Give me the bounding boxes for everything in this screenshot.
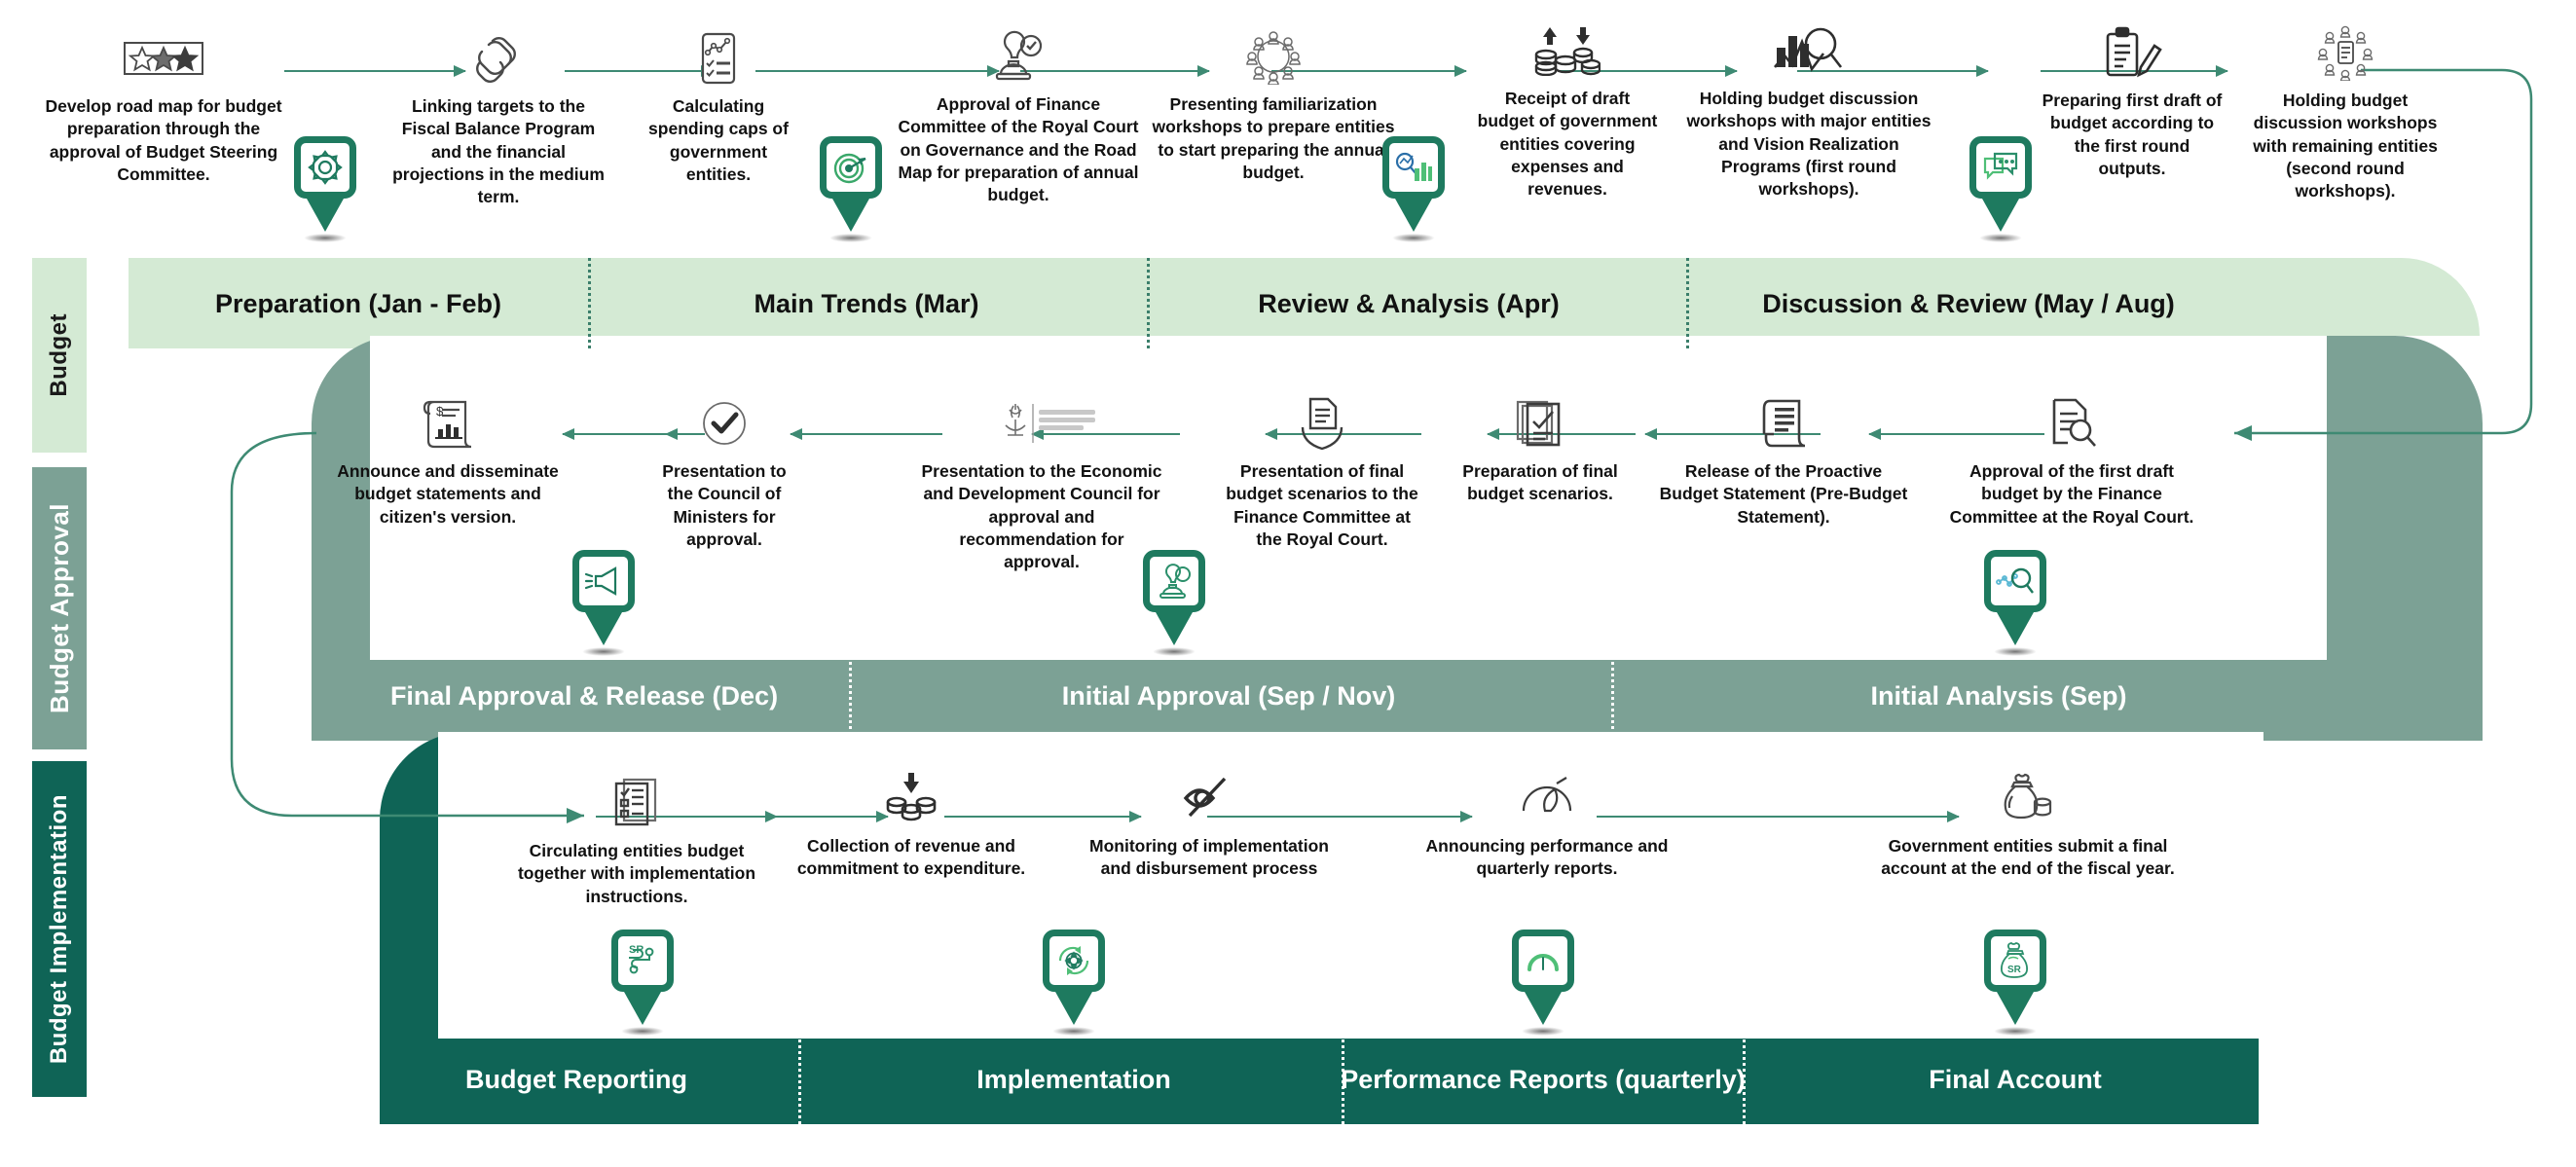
step-r2-1-caption: Announce and disseminate budget statemen… (336, 460, 560, 529)
step-r1-6-caption: Receipt of draft budget of government en… (1475, 88, 1660, 201)
divider-row3-1 (798, 1034, 801, 1124)
step-r1-3-caption: Calculating spending caps of government … (645, 95, 791, 186)
phase-label-initial-analysis: Initial Analysis (Sep) (1870, 681, 2126, 711)
phase-label-budget-reporting: Budget Reporting (465, 1065, 687, 1095)
phase-label-review-analysis: Review & Analysis (Apr) (1258, 289, 1560, 319)
budget-cycle-diagram: Budget Budget Approval Budget Implementa… (0, 0, 2576, 1167)
gauge-pin-icon (1512, 930, 1574, 992)
scroll-statement-icon (1657, 394, 1910, 453)
phase-label-preparation: Preparation (Jan - Feb) (215, 289, 501, 319)
phase-label-implementation: Implementation (976, 1065, 1171, 1095)
step-r1-2: Linking targets to the Fiscal Balance Pr… (391, 29, 606, 208)
lane-label-budget-implementation-text: Budget Implementation (46, 794, 73, 1064)
step-r1-8: Preparing first draft of budget accordin… (2040, 23, 2225, 180)
lane-label-budget-approval: Budget Approval (32, 467, 87, 749)
step-r2-5-caption: Preparation of final budget scenarios. (1453, 460, 1628, 506)
step-r3-5-caption: Government entities submit a final accou… (1872, 835, 2184, 881)
step-r3-2-caption: Collection of revenue and commitment to … (794, 835, 1028, 881)
money-bag-coins-icon (1872, 769, 2184, 827)
step-r3-2: Collection of revenue and commitment to … (794, 769, 1028, 881)
chat-bubbles-pin-icon (1969, 136, 2032, 199)
coins-up-down-icon (1475, 21, 1660, 80)
pin-performance-reports[interactable] (1512, 930, 1574, 1036)
step-r2-1: $ Announce and disseminate budget statem… (336, 394, 560, 529)
step-r2-6-caption: Release of the Proactive Budget Statemen… (1657, 460, 1910, 529)
bar-chart-magnifier-icon (1677, 21, 1940, 80)
pin-initial-approval[interactable] (1143, 550, 1205, 656)
stars-rating-icon (32, 29, 295, 88)
approval-stamp-icon (892, 27, 1145, 86)
step-r1-4: Approval of Finance Committee of the Roy… (892, 27, 1145, 206)
stamp-pin-icon (1143, 550, 1205, 612)
gauge-meter-icon (1425, 769, 1669, 827)
step-r2-2: Presentation to the Council of Ministers… (651, 394, 797, 551)
step-r3-4: Announcing performance and quarterly rep… (1425, 769, 1669, 881)
pin-final-approval[interactable] (572, 550, 635, 656)
svg-text:SR: SR (2007, 965, 2022, 975)
divider-row2-2 (1611, 650, 1614, 741)
step-r2-6: Release of the Proactive Budget Statemen… (1657, 394, 1910, 529)
lane-label-budget: Budget (32, 258, 87, 453)
pin-preparation[interactable] (294, 136, 356, 242)
phase-label-final-account: Final Account (1929, 1065, 2102, 1095)
phase-label-performance-reports: Performance Reports (quarterly) (1341, 1065, 1746, 1095)
pin-final-account[interactable]: SR (1984, 930, 2046, 1036)
coins-down-arrow-icon (794, 769, 1028, 827)
lane-label-budget-text: Budget (46, 313, 73, 397)
step-r1-5-caption: Presenting familiarization workshops to … (1152, 93, 1395, 184)
step-r1-9: Holding budget discussion workshops with… (2243, 23, 2447, 202)
chain-link-icon (391, 29, 606, 88)
lane-label-budget-implementation: Budget Implementation (32, 761, 87, 1097)
lane-label-budget-approval-text: Budget Approval (45, 503, 75, 713)
step-r1-9-caption: Holding budget discussion workshops with… (2243, 90, 2447, 202)
svg-text:$: $ (436, 404, 444, 419)
step-r1-8-caption: Preparing first draft of budget accordin… (2040, 90, 2225, 180)
divider-row1-3 (1686, 258, 1689, 348)
search-analytics-pin-icon (1984, 550, 2046, 612)
eye-slash-icon (1083, 769, 1336, 827)
documents-check-icon (1453, 394, 1628, 453)
pin-budget-reporting[interactable]: SR (611, 930, 674, 1036)
clipboard-pencil-icon (2040, 23, 2225, 82)
step-r1-2-caption: Linking targets to the Fiscal Balance Pr… (391, 95, 606, 208)
step-r2-5: Preparation of final budget scenarios. (1453, 394, 1628, 506)
phase-label-discussion-review: Discussion & Review (May / Aug) (1762, 289, 2175, 319)
step-r3-5: Government entities submit a final accou… (1872, 769, 2184, 881)
pin-review-analysis[interactable] (1382, 136, 1445, 242)
phase-label-final-approval: Final Approval & Release (Dec) (390, 681, 778, 711)
step-r1-6: Receipt of draft budget of government en… (1475, 21, 1660, 201)
megaphone-pin-icon (572, 550, 635, 612)
step-r1-7-caption: Holding budget discussion workshops with… (1677, 88, 1940, 201)
step-r3-1-caption: Circulating entities budget together wit… (515, 840, 758, 908)
step-r2-7-caption: Approval of the first draft budget by th… (1940, 460, 2203, 529)
step-r3-3-caption: Monitoring of implementation and disburs… (1083, 835, 1336, 881)
magnifier-bars-pin-icon (1382, 136, 1445, 199)
phase-label-initial-approval: Initial Approval (Sep / Nov) (1062, 681, 1396, 711)
step-r1-5: Presenting familiarization workshops to … (1152, 27, 1395, 184)
step-r3-4-caption: Announcing performance and quarterly rep… (1425, 835, 1669, 881)
gear-cycle-pin-icon (1043, 930, 1105, 992)
step-r1-4-caption: Approval of Finance Committee of the Roy… (892, 93, 1145, 206)
step-r2-4: Presentation of final budget scenarios t… (1220, 394, 1424, 551)
document-hand-icon (1220, 394, 1424, 453)
divider-row1-1 (588, 258, 591, 348)
step-r2-2-caption: Presentation to the Council of Ministers… (651, 460, 797, 551)
step-r2-4-caption: Presentation of final budget scenarios t… (1220, 460, 1424, 551)
phase-label-main-trends: Main Trends (Mar) (754, 289, 978, 319)
step-r2-7: Approval of the first draft budget by th… (1940, 394, 2203, 529)
pin-implementation[interactable] (1043, 930, 1105, 1036)
checklist-documents-icon (515, 774, 758, 832)
divider-row2-1 (849, 650, 852, 741)
document-magnifier-icon (1940, 394, 2203, 453)
step-r2-3: Presentation to the Economic and Develop… (920, 394, 1163, 573)
step-r3-3: Monitoring of implementation and disburs… (1083, 769, 1336, 881)
step-r3-1: Circulating entities budget together wit… (515, 774, 758, 908)
pin-discussion-review[interactable] (1969, 136, 2032, 242)
check-circle-icon (651, 394, 797, 453)
step-r1-3: Calculating spending caps of government … (645, 29, 791, 186)
financial-report-icon: $ (336, 394, 560, 453)
step-r1-1-caption: Develop road map for budget preparation … (32, 95, 295, 186)
step-r2-3-caption: Presentation to the Economic and Develop… (920, 460, 1163, 573)
pin-main-trends[interactable] (820, 136, 882, 242)
step-r1-7: Holding budget discussion workshops with… (1677, 21, 1940, 201)
step-r1-1: Develop road map for budget preparation … (32, 29, 295, 186)
saudi-emblem-icon (920, 394, 1163, 453)
divider-row1-2 (1147, 258, 1150, 348)
people-circle-icon (1152, 27, 1395, 86)
people-clipboard-icon (2243, 23, 2447, 82)
pin-initial-analysis[interactable] (1984, 550, 2046, 656)
chart-checklist-icon (645, 29, 791, 88)
target-dart-pin-icon (820, 136, 882, 199)
sr-route-pin-icon: SR (611, 930, 674, 992)
gear-pin-icon (294, 136, 356, 199)
money-bag-sr-pin-icon: SR (1984, 930, 2046, 992)
